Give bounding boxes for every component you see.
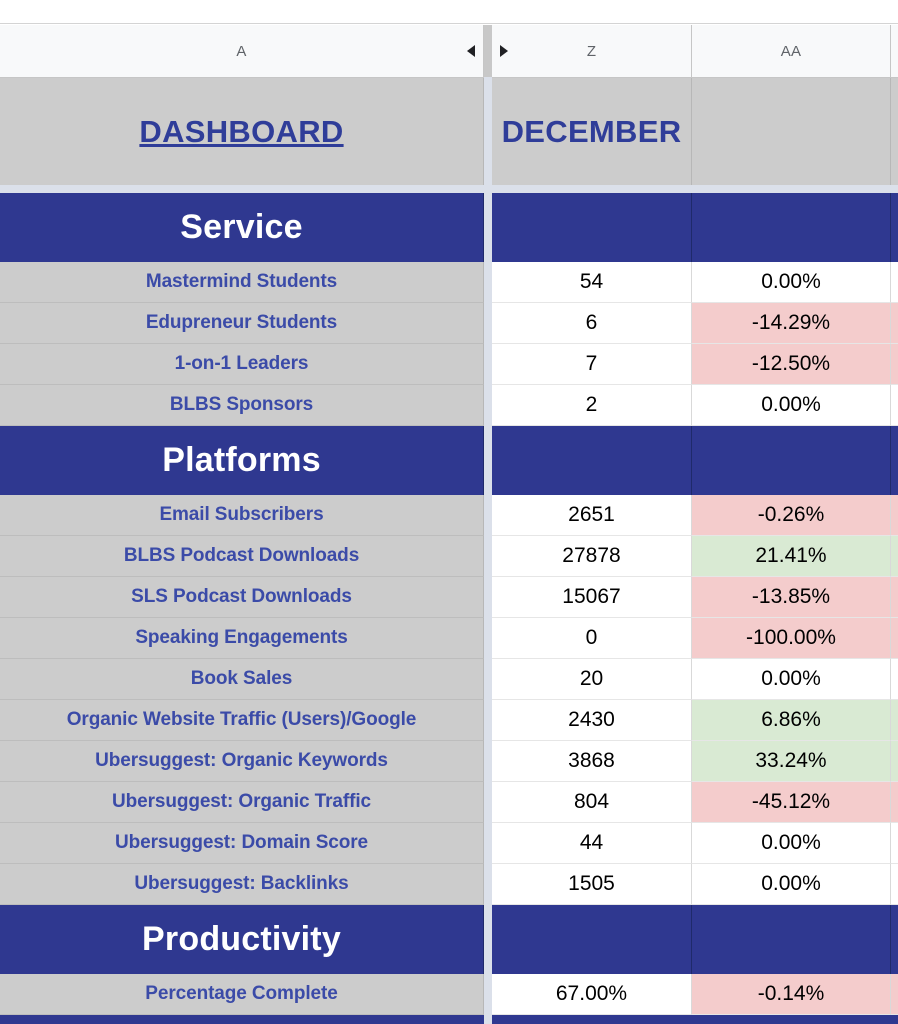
metric-value-cell[interactable]: 7 <box>492 344 692 385</box>
metric-delta: -100.00% <box>746 626 836 650</box>
metric-label-cell[interactable]: SLS Podcast Downloads <box>0 577 484 618</box>
row-overflow-cell[interactable] <box>891 262 898 303</box>
frozen-pane-right-arrow-icon[interactable] <box>500 45 508 57</box>
table-row: Ubersuggest: Organic Traffic804-45.12% <box>0 782 898 823</box>
metric-delta-cell[interactable]: -100.00% <box>692 618 891 659</box>
metric-label: BLBS Sponsors <box>170 394 313 416</box>
row-overflow-cell[interactable] <box>891 782 898 823</box>
metric-delta: 0.00% <box>761 393 821 417</box>
metric-value: 1505 <box>568 872 615 896</box>
section-header-row: Service <box>0 193 898 262</box>
dashboard-title: DASHBOARD <box>139 114 343 150</box>
table-row: Mastermind Students540.00% <box>0 262 898 303</box>
frozen-pane-gutter <box>484 25 492 1024</box>
table-row: Book Sales200.00% <box>0 659 898 700</box>
table-row: Ubersuggest: Domain Score440.00% <box>0 823 898 864</box>
metric-delta: -13.85% <box>752 585 830 609</box>
metric-value-cell[interactable]: 20 <box>492 659 692 700</box>
metric-delta-cell[interactable]: 33.24% <box>692 741 891 782</box>
column-header-a[interactable]: A <box>0 25 484 77</box>
metric-value: 67.00% <box>556 982 627 1006</box>
row-overflow-cell[interactable] <box>891 536 898 577</box>
column-header-z[interactable]: Z <box>492 25 692 77</box>
metric-label-cell[interactable]: Mastermind Students <box>0 262 484 303</box>
period-title-cell[interactable]: DECEMBER <box>492 78 692 185</box>
metric-label: Book Sales <box>191 668 292 690</box>
metric-delta-cell[interactable]: 0.00% <box>692 659 891 700</box>
row-overflow-cell[interactable] <box>891 741 898 782</box>
metric-delta: 0.00% <box>761 872 821 896</box>
row-overflow-cell[interactable] <box>891 618 898 659</box>
row-overflow-cell[interactable] <box>891 577 898 618</box>
metric-delta-cell[interactable]: 0.00% <box>692 864 891 905</box>
metric-value: 7 <box>586 352 598 376</box>
metric-delta: -12.50% <box>752 352 830 376</box>
column-header-band: A Z AA <box>0 25 898 78</box>
metric-delta: -0.14% <box>758 982 825 1006</box>
metric-delta: 0.00% <box>761 667 821 691</box>
bottom-strip-cell-aa <box>692 1015 891 1024</box>
metric-delta: 6.86% <box>761 708 821 732</box>
metric-label-cell[interactable]: Ubersuggest: Organic Keywords <box>0 741 484 782</box>
title-row: DASHBOARDDECEMBER <box>0 78 898 185</box>
table-row: Ubersuggest: Backlinks15050.00% <box>0 864 898 905</box>
metric-label-cell[interactable]: BLBS Podcast Downloads <box>0 536 484 577</box>
row-overflow-cell[interactable] <box>891 385 898 426</box>
metric-label: Organic Website Traffic (Users)/Google <box>67 709 417 731</box>
title-spacer-row <box>0 185 898 193</box>
table-row: SLS Podcast Downloads15067-13.85% <box>0 577 898 618</box>
metric-label-cell[interactable]: Email Subscribers <box>0 495 484 536</box>
table-row: Speaking Engagements0-100.00% <box>0 618 898 659</box>
row-overflow-cell[interactable] <box>891 700 898 741</box>
section-title: Productivity <box>142 920 341 959</box>
metric-label: Ubersuggest: Organic Traffic <box>112 791 371 813</box>
spacer-cell-a <box>0 185 484 193</box>
row-overflow-cell[interactable] <box>891 303 898 344</box>
bottom-strip-cell-z <box>492 1015 692 1024</box>
metric-value-cell[interactable]: 3868 <box>492 741 692 782</box>
metric-delta: 0.00% <box>761 270 821 294</box>
row-overflow-cell[interactable] <box>891 344 898 385</box>
section-header-row: Platforms <box>0 426 898 495</box>
metric-value-cell[interactable]: 27878 <box>492 536 692 577</box>
metric-value-cell[interactable]: 2430 <box>492 700 692 741</box>
sheet-grid: DASHBOARDDECEMBERServiceMastermind Stude… <box>0 78 898 1024</box>
metric-delta: -45.12% <box>752 790 830 814</box>
metric-value: 20 <box>580 667 603 691</box>
section-header-cell[interactable]: Productivity <box>0 905 484 974</box>
row-overflow-cell[interactable] <box>891 823 898 864</box>
metric-value-cell[interactable]: 44 <box>492 823 692 864</box>
table-row: Ubersuggest: Organic Keywords386833.24% <box>0 741 898 782</box>
metric-value-cell[interactable]: 54 <box>492 262 692 303</box>
metric-label-cell[interactable]: Ubersuggest: Organic Traffic <box>0 782 484 823</box>
metric-label: Email Subscribers <box>159 504 323 526</box>
spacer-cell-aa <box>692 185 891 193</box>
spreadsheet-view: A Z AA DASHBOARDDECEMBERServiceMastermin… <box>0 0 898 1024</box>
metric-label: Mastermind Students <box>146 271 337 293</box>
section-header-spacer-z[interactable] <box>492 905 692 974</box>
period-delta-title-cell[interactable] <box>692 78 891 185</box>
section-title: Platforms <box>162 441 321 480</box>
metric-label: Speaking Engagements <box>135 627 347 649</box>
section-header-spacer-ab[interactable] <box>891 193 898 262</box>
column-header-aa[interactable]: AA <box>692 25 891 77</box>
metric-value: 3868 <box>568 749 615 773</box>
title-overflow-cell[interactable] <box>891 78 898 185</box>
metric-delta-cell[interactable]: 21.41% <box>692 536 891 577</box>
metric-label: Ubersuggest: Domain Score <box>115 832 368 854</box>
metric-delta: 21.41% <box>755 544 826 568</box>
metric-value-cell[interactable]: 804 <box>492 782 692 823</box>
metric-delta-cell[interactable]: 0.00% <box>692 385 891 426</box>
spacer-cell-ab <box>891 185 898 193</box>
table-row: Organic Website Traffic (Users)/Google24… <box>0 700 898 741</box>
row-overflow-cell[interactable] <box>891 864 898 905</box>
section-header-cell[interactable]: Service <box>0 193 484 262</box>
metric-value-cell[interactable]: 15067 <box>492 577 692 618</box>
metric-delta: -0.26% <box>758 503 825 527</box>
metric-label: Percentage Complete <box>145 983 337 1005</box>
column-header-aa-label: AA <box>781 43 801 60</box>
metric-value-cell[interactable]: 1505 <box>492 864 692 905</box>
table-row: Email Subscribers2651-0.26% <box>0 495 898 536</box>
metric-delta-cell[interactable]: 6.86% <box>692 700 891 741</box>
spacer-cell-z <box>492 185 692 193</box>
metric-label-cell[interactable]: Edupreneur Students <box>0 303 484 344</box>
frozen-pane-left-arrow-icon[interactable] <box>467 45 475 57</box>
frozen-pane-gutter-header <box>484 25 492 77</box>
section-header-spacer-ab[interactable] <box>891 905 898 974</box>
metric-label-cell[interactable]: Ubersuggest: Backlinks <box>0 864 484 905</box>
period-title: DECEMBER <box>502 114 682 150</box>
metric-label-cell[interactable]: 1-on-1 Leaders <box>0 344 484 385</box>
bottom-strip-cell-a <box>0 1015 484 1024</box>
dashboard-title-cell[interactable]: DASHBOARD <box>0 78 484 185</box>
metric-delta-cell[interactable]: -13.85% <box>692 577 891 618</box>
section-header-spacer-aa[interactable] <box>692 905 891 974</box>
metric-label: Edupreneur Students <box>146 312 337 334</box>
metric-label-cell[interactable]: Book Sales <box>0 659 484 700</box>
row-overflow-cell[interactable] <box>891 974 898 1015</box>
table-row: BLBS Podcast Downloads2787821.41% <box>0 536 898 577</box>
row-overflow-cell[interactable] <box>891 495 898 536</box>
metric-value-cell[interactable]: 0 <box>492 618 692 659</box>
metric-value-cell[interactable]: 2 <box>492 385 692 426</box>
section-title: Service <box>180 208 302 247</box>
metric-label-cell[interactable]: Organic Website Traffic (Users)/Google <box>0 700 484 741</box>
metric-label: 1-on-1 Leaders <box>175 353 309 375</box>
metric-value-cell[interactable]: 2651 <box>492 495 692 536</box>
table-row: Percentage Complete67.00%-0.14% <box>0 974 898 1015</box>
metric-value: 6 <box>586 311 598 335</box>
metric-value: 2651 <box>568 503 615 527</box>
metric-delta: -14.29% <box>752 311 830 335</box>
metric-value: 27878 <box>562 544 620 568</box>
table-row: Edupreneur Students6-14.29% <box>0 303 898 344</box>
metric-label: Ubersuggest: Backlinks <box>134 873 348 895</box>
metric-value: 2 <box>586 393 598 417</box>
metric-delta-cell[interactable]: -0.26% <box>692 495 891 536</box>
metric-label-cell[interactable]: Percentage Complete <box>0 974 484 1015</box>
metric-value-cell[interactable]: 67.00% <box>492 974 692 1015</box>
row-overflow-cell[interactable] <box>891 659 898 700</box>
metric-delta-cell[interactable]: 0.00% <box>692 823 891 864</box>
metric-value: 2430 <box>568 708 615 732</box>
metric-delta-cell[interactable]: 0.00% <box>692 262 891 303</box>
metric-delta-cell[interactable]: -14.29% <box>692 303 891 344</box>
bottom-strip-cell-ab <box>891 1015 898 1024</box>
table-row: 1-on-1 Leaders7-12.50% <box>0 344 898 385</box>
section-header-row: Productivity <box>0 905 898 974</box>
metric-label-cell[interactable]: BLBS Sponsors <box>0 385 484 426</box>
section-header-spacer-aa[interactable] <box>692 426 891 495</box>
metric-value-cell[interactable]: 6 <box>492 303 692 344</box>
metric-label: BLBS Podcast Downloads <box>124 545 359 567</box>
bottom-section-strip <box>0 1015 898 1024</box>
metric-delta-cell[interactable]: -45.12% <box>692 782 891 823</box>
section-header-spacer-aa[interactable] <box>692 193 891 262</box>
section-header-spacer-z[interactable] <box>492 426 692 495</box>
metric-delta-cell[interactable]: -12.50% <box>692 344 891 385</box>
metric-value: 804 <box>574 790 609 814</box>
column-header-z-label: Z <box>587 43 596 60</box>
metric-label-cell[interactable]: Speaking Engagements <box>0 618 484 659</box>
metric-delta: 33.24% <box>755 749 826 773</box>
column-header-a-label: A <box>236 43 246 60</box>
column-header-ab[interactable] <box>891 25 898 77</box>
metric-delta-cell[interactable]: -0.14% <box>692 974 891 1015</box>
table-row: BLBS Sponsors20.00% <box>0 385 898 426</box>
metric-value: 54 <box>580 270 603 294</box>
metric-label: Ubersuggest: Organic Keywords <box>95 750 388 772</box>
section-header-cell[interactable]: Platforms <box>0 426 484 495</box>
section-header-spacer-ab[interactable] <box>891 426 898 495</box>
section-header-spacer-z[interactable] <box>492 193 692 262</box>
metric-value: 44 <box>580 831 603 855</box>
window-chrome-strip <box>0 0 898 24</box>
metric-value: 0 <box>586 626 598 650</box>
metric-delta: 0.00% <box>761 831 821 855</box>
metric-value: 15067 <box>562 585 620 609</box>
metric-label-cell[interactable]: Ubersuggest: Domain Score <box>0 823 484 864</box>
metric-label: SLS Podcast Downloads <box>131 586 352 608</box>
